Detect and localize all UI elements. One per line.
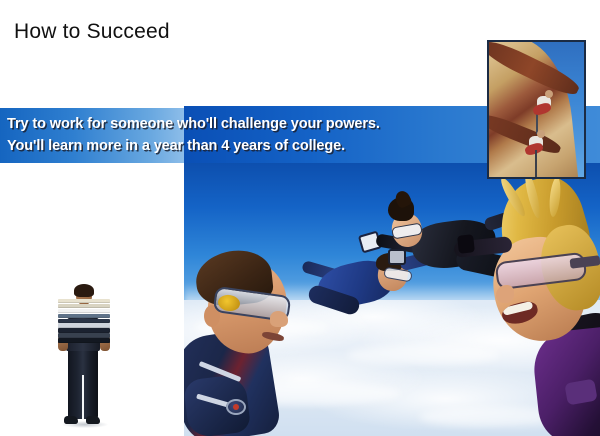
binder (58, 314, 110, 318)
climbing-photo (487, 40, 586, 179)
climber-legs (532, 101, 552, 116)
binder (58, 299, 110, 303)
binder (58, 309, 110, 313)
skydiver-nose (270, 311, 288, 327)
wrist-altimeter (388, 249, 406, 265)
skydiver-blonde-foreground (484, 185, 600, 435)
climbing-rope (535, 150, 537, 179)
skydiving-photo (184, 163, 600, 436)
page-title: How to Succeed (14, 20, 170, 44)
binder (58, 333, 110, 337)
climber-legs (524, 141, 544, 156)
binder (58, 328, 110, 332)
skydiver-nose (496, 285, 514, 303)
binder (58, 304, 110, 308)
climber-head (545, 90, 553, 98)
leg-gap (82, 375, 84, 419)
shoe (86, 416, 100, 424)
woman-hair (74, 284, 94, 297)
binder (58, 323, 110, 327)
binder (58, 319, 110, 323)
climber-upper (531, 90, 557, 118)
slide: How to Succeed (0, 0, 600, 436)
binder-stack (58, 299, 110, 343)
binder (58, 338, 110, 342)
altimeter-needle (233, 404, 239, 410)
climber-head (537, 130, 545, 138)
binders-photo (50, 283, 116, 428)
shoe (64, 416, 78, 424)
cloud-wisp (347, 345, 500, 365)
wrist-altimeter (457, 234, 475, 254)
